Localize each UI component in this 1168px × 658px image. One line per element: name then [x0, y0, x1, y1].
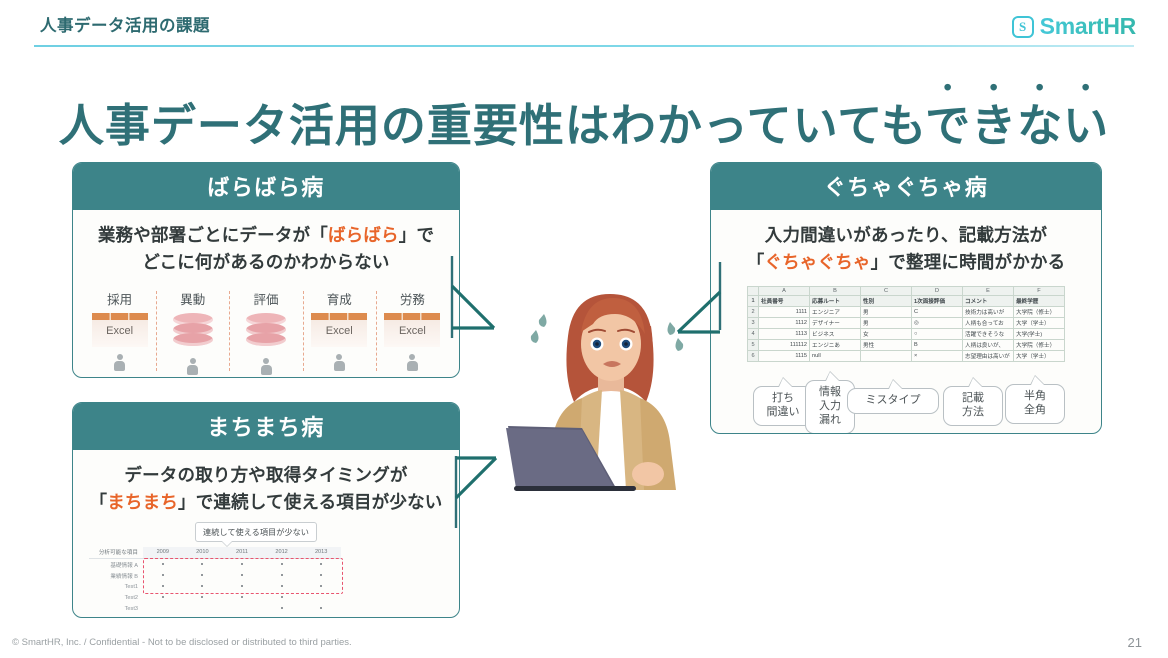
spreadsheet-header-cell: 社員番号 — [759, 296, 810, 307]
spreadsheet-cell: 人柄は良いが、 — [963, 340, 1014, 351]
database-icon — [246, 313, 286, 351]
headline-emphasized: できない — [925, 100, 1109, 151]
spreadsheet-cell — [861, 351, 912, 362]
spreadsheet-cell: 1113 — [759, 329, 810, 340]
footer-copyright: © SmartHR, Inc. / Confidential - Not to … — [12, 637, 352, 648]
mini-table-row-label: 基礎情報 A — [89, 561, 143, 569]
data-source-column: 育成 Excel — [303, 289, 376, 375]
spreadsheet-col-label: F — [1014, 287, 1065, 296]
spreadsheet-cell: 大学（学士） — [1014, 318, 1065, 329]
data-source-column: 労務 Excel — [376, 289, 449, 375]
mini-table-selection-box — [143, 558, 343, 594]
mini-table-corner: 分析可能な項目 — [89, 548, 143, 556]
card-machimachi: まちまち病 データの取り方や取得タイミングが 「まちまち」で連続して使える項目が… — [72, 402, 460, 618]
lead-highlight: まちまち — [107, 492, 178, 512]
error-callout-line: ミスタイプ — [855, 394, 931, 408]
headline-plain: 人事データ活用の重要性はわかっていても — [59, 100, 925, 151]
spreadsheet-cell: null — [810, 351, 861, 362]
data-source-label: 労務 — [400, 289, 425, 308]
excel-label: Excel — [311, 325, 367, 337]
spreadsheet-row: 21111エンジニア男C技術力は高いが大学院（修士） — [748, 307, 1065, 318]
data-source-label: 異動 — [180, 289, 205, 308]
lead-text-part: データの取り方や取得タイミングが — [83, 462, 449, 489]
excel-label: Excel — [92, 325, 148, 337]
spreadsheet-row: 5111112エンジニあ男性B人柄は良いが、大学院（修士） — [748, 340, 1065, 351]
person-icon — [407, 354, 418, 371]
spreadsheet-header-cell: コメント — [963, 296, 1014, 307]
spreadsheet-cell: 大学院（修士） — [1014, 340, 1065, 351]
spreadsheet-cell: 男 — [861, 307, 912, 318]
lead-text-part: 」で — [399, 225, 434, 245]
spreadsheet-cell: エンジニア — [810, 307, 861, 318]
spreadsheet-col-label: B — [810, 287, 861, 296]
lead-text-part: 「 — [747, 252, 765, 272]
data-source-label: 採用 — [107, 289, 132, 308]
person-icon — [114, 354, 125, 371]
spreadsheet-cell: ◎ — [912, 318, 963, 329]
data-source-column: 評価 — [229, 289, 302, 375]
spreadsheet-corner — [748, 287, 759, 296]
mini-table-year-header: 2013 — [301, 547, 341, 558]
spreadsheet-row-label: 2 — [748, 307, 759, 318]
lead-text-part: どこに何があるのかわからない — [83, 249, 449, 276]
lead-text-part: 」で連続して使える項目が少ない — [178, 492, 442, 512]
lead-text-part: 業務や部署ごとにデータが「 — [98, 225, 328, 245]
spreadsheet-cell: 1115 — [759, 351, 810, 362]
spreadsheet-cell: B — [912, 340, 963, 351]
slide-headline: 人事データ活用の重要性はわかっていてもできない — [0, 74, 1168, 154]
data-source-column: 異動 — [156, 289, 229, 375]
mini-table-cell — [143, 617, 183, 618]
spreadsheet-row-label: 1 — [748, 296, 759, 307]
error-callout: 半角全角 — [1005, 384, 1065, 424]
spreadsheet-cell: 大学（学士） — [1014, 351, 1065, 362]
mini-table-cell — [262, 595, 302, 601]
error-callout-line: 間違い — [761, 406, 805, 420]
spreadsheet-cell: 111112 — [759, 340, 810, 351]
spreadsheet-row: 61115null×志望理由は高いが大学（学士） — [748, 351, 1065, 362]
spreadsheet-cell: ビジネス — [810, 329, 861, 340]
spreadsheet-row-label: 6 — [748, 351, 759, 362]
spreadsheet-row-label: 4 — [748, 329, 759, 340]
mini-table-tooltip: 連続して使える項目が少ない — [195, 522, 317, 542]
spreadsheet-column-header-row: ABCDEF — [748, 287, 1065, 296]
mini-table-cell — [301, 606, 341, 612]
person-icon — [261, 358, 272, 375]
person-icon — [334, 354, 345, 371]
spreadsheet-cell: 男性 — [861, 340, 912, 351]
card-machimachi-lead: データの取り方や取得タイミングが 「まちまち」で連続して使える項目が少ない — [83, 462, 449, 516]
mini-table-year-header: 2009 — [143, 547, 183, 558]
spreadsheet-row-label: 3 — [748, 318, 759, 329]
spreadsheet-cell: 志望理由は高いが — [963, 351, 1014, 362]
card-barabara-heading: ばらばら病 — [73, 163, 459, 210]
spreadsheet-header-cell: 1次面接評価 — [912, 296, 963, 307]
mini-table-row-label: 取得停止 — [89, 616, 143, 618]
card-guchagucha-lead: 入力間違いがあったり、記載方法が 「ぐちゃぐちゃ」で整理に時間がかかる — [721, 222, 1091, 276]
spreadsheet-row-label: 5 — [748, 340, 759, 351]
error-callout-line: 入力 — [813, 400, 847, 414]
spreadsheet-row: 31112デザイナー男◎人柄も合ってお大学（学士） — [748, 318, 1065, 329]
error-callout: ミスタイプ — [847, 388, 939, 414]
card-barabara: ばらばら病 業務や部署ごとにデータが「ばらばら」で どこに何があるのかわからない… — [72, 162, 460, 378]
lead-text-part: 「 — [90, 492, 108, 512]
error-callout: 記載方法 — [943, 386, 1003, 426]
database-icon — [173, 313, 213, 351]
mini-table-year-header: 2011 — [222, 547, 262, 558]
mini-table-row: 取得停止 — [89, 614, 341, 618]
smarthr-logo-text: SmartHR — [1040, 13, 1136, 40]
card-guchagucha: ぐちゃぐちゃ病 入力間違いがあったり、記載方法が 「ぐちゃぐちゃ」で整理に時間が… — [710, 162, 1102, 434]
data-source-label: 育成 — [327, 289, 352, 308]
data-source-column: 採用 Excel — [83, 289, 156, 375]
mini-table-row-label: 業績情報 B — [89, 572, 143, 580]
mini-table-cell — [222, 595, 262, 601]
card-machimachi-heading: まちまち病 — [73, 403, 459, 450]
excel-sheet-icon: Excel — [384, 313, 440, 347]
spreadsheet-cell: 大学院（修士） — [1014, 307, 1065, 318]
page-title: 人事データ活用の課題 — [40, 12, 210, 36]
machimachi-mini-table: 連続して使える項目が少ない 分析可能な項目2009201020112012201… — [83, 522, 449, 618]
smarthr-logo-mark-icon: S — [1012, 16, 1034, 38]
spreadsheet-header-cell: 性別 — [861, 296, 912, 307]
page-number: 21 — [1128, 635, 1142, 650]
excel-sheet-icon: Excel — [311, 313, 367, 347]
spreadsheet-col-label: D — [912, 287, 963, 296]
person-icon — [187, 358, 198, 375]
lead-highlight: ぐちゃぐちゃ — [764, 252, 870, 272]
mini-table-year-header: 2010 — [183, 547, 223, 558]
mini-table-cell — [143, 595, 183, 601]
error-callout-line: 情報 — [813, 386, 847, 400]
spreadsheet-header-cell: 応募ルート — [810, 296, 861, 307]
spreadsheet-cell: 技術力は高いが — [963, 307, 1014, 318]
mini-table-row-label: Test1 — [89, 584, 143, 590]
mini-table-cell — [183, 595, 223, 601]
spreadsheet-cell: 1112 — [759, 318, 810, 329]
spreadsheet-header-cell: 最終学歴 — [1014, 296, 1065, 307]
header-divider — [34, 45, 1134, 47]
excel-label: Excel — [384, 325, 440, 337]
spreadsheet-cell: エンジニあ — [810, 340, 861, 351]
spreadsheet-cell: 活躍できそうな — [963, 329, 1014, 340]
error-callout-line: 漏れ — [813, 414, 847, 428]
mini-table-row: Test3 — [89, 603, 341, 614]
mini-table-row-label: Test3 — [89, 606, 143, 612]
spreadsheet-cell: デザイナー — [810, 318, 861, 329]
error-callout-line: 方法 — [951, 406, 995, 420]
error-callout-group: 打ち間違い情報入力漏れミスタイプ記載方法半角全角 — [741, 378, 1071, 434]
data-source-icon-row: 採用 Excel 異動 評価 育成 Excel 労務 Excel — [83, 289, 449, 375]
mini-table-year-header: 2012 — [262, 547, 302, 558]
error-callout: 打ち間違い — [753, 386, 813, 426]
spreadsheet-cell: 女 — [861, 329, 912, 340]
lead-text-part: 入力間違いがあったり、記載方法が — [721, 222, 1091, 249]
spreadsheet-row: 41113ビジネス女○活躍できそうな大学(学士) — [748, 329, 1065, 340]
mini-table-row-label: Test2 — [89, 595, 143, 601]
lead-highlight: ばらばら — [328, 225, 399, 245]
mini-table-cell — [262, 606, 302, 612]
spreadsheet-cell: 男 — [861, 318, 912, 329]
spreadsheet-cell: × — [912, 351, 963, 362]
card-barabara-lead: 業務や部署ごとにデータが「ばらばら」で どこに何があるのかわからない — [83, 222, 449, 276]
illustration-worried-worker — [498, 278, 718, 498]
error-callout-line: 記載 — [951, 392, 995, 406]
spreadsheet-cell: 人柄も合ってお — [963, 318, 1014, 329]
error-callout-line: 打ち — [761, 392, 805, 406]
mini-table-cell — [183, 617, 223, 618]
spreadsheet-col-label: A — [759, 287, 810, 296]
data-source-label: 評価 — [254, 289, 279, 308]
spreadsheet-cell: 大学(学士) — [1014, 329, 1065, 340]
excel-sheet-icon: Excel — [92, 313, 148, 347]
error-callout-line: 半角 — [1013, 390, 1057, 404]
guchagucha-spreadsheet: ABCDEF1社員番号応募ルート性別1次面接評価コメント最終学歴21111エンジ… — [747, 286, 1065, 362]
card-guchagucha-heading: ぐちゃぐちゃ病 — [711, 163, 1101, 210]
spreadsheet-row: 1社員番号応募ルート性別1次面接評価コメント最終学歴 — [748, 296, 1065, 307]
spreadsheet-cell: 1111 — [759, 307, 810, 318]
slide-header: 人事データ活用の課題 S SmartHR — [0, 0, 1168, 46]
error-callout-line: 全角 — [1013, 404, 1057, 418]
spreadsheet-cell: ○ — [912, 329, 963, 340]
lead-text-part: 」で整理に時間がかかる — [871, 252, 1066, 272]
spreadsheet-col-label: C — [861, 287, 912, 296]
spreadsheet-col-label: E — [963, 287, 1014, 296]
spreadsheet-cell: C — [912, 307, 963, 318]
smarthr-logo: S SmartHR — [1012, 13, 1136, 40]
